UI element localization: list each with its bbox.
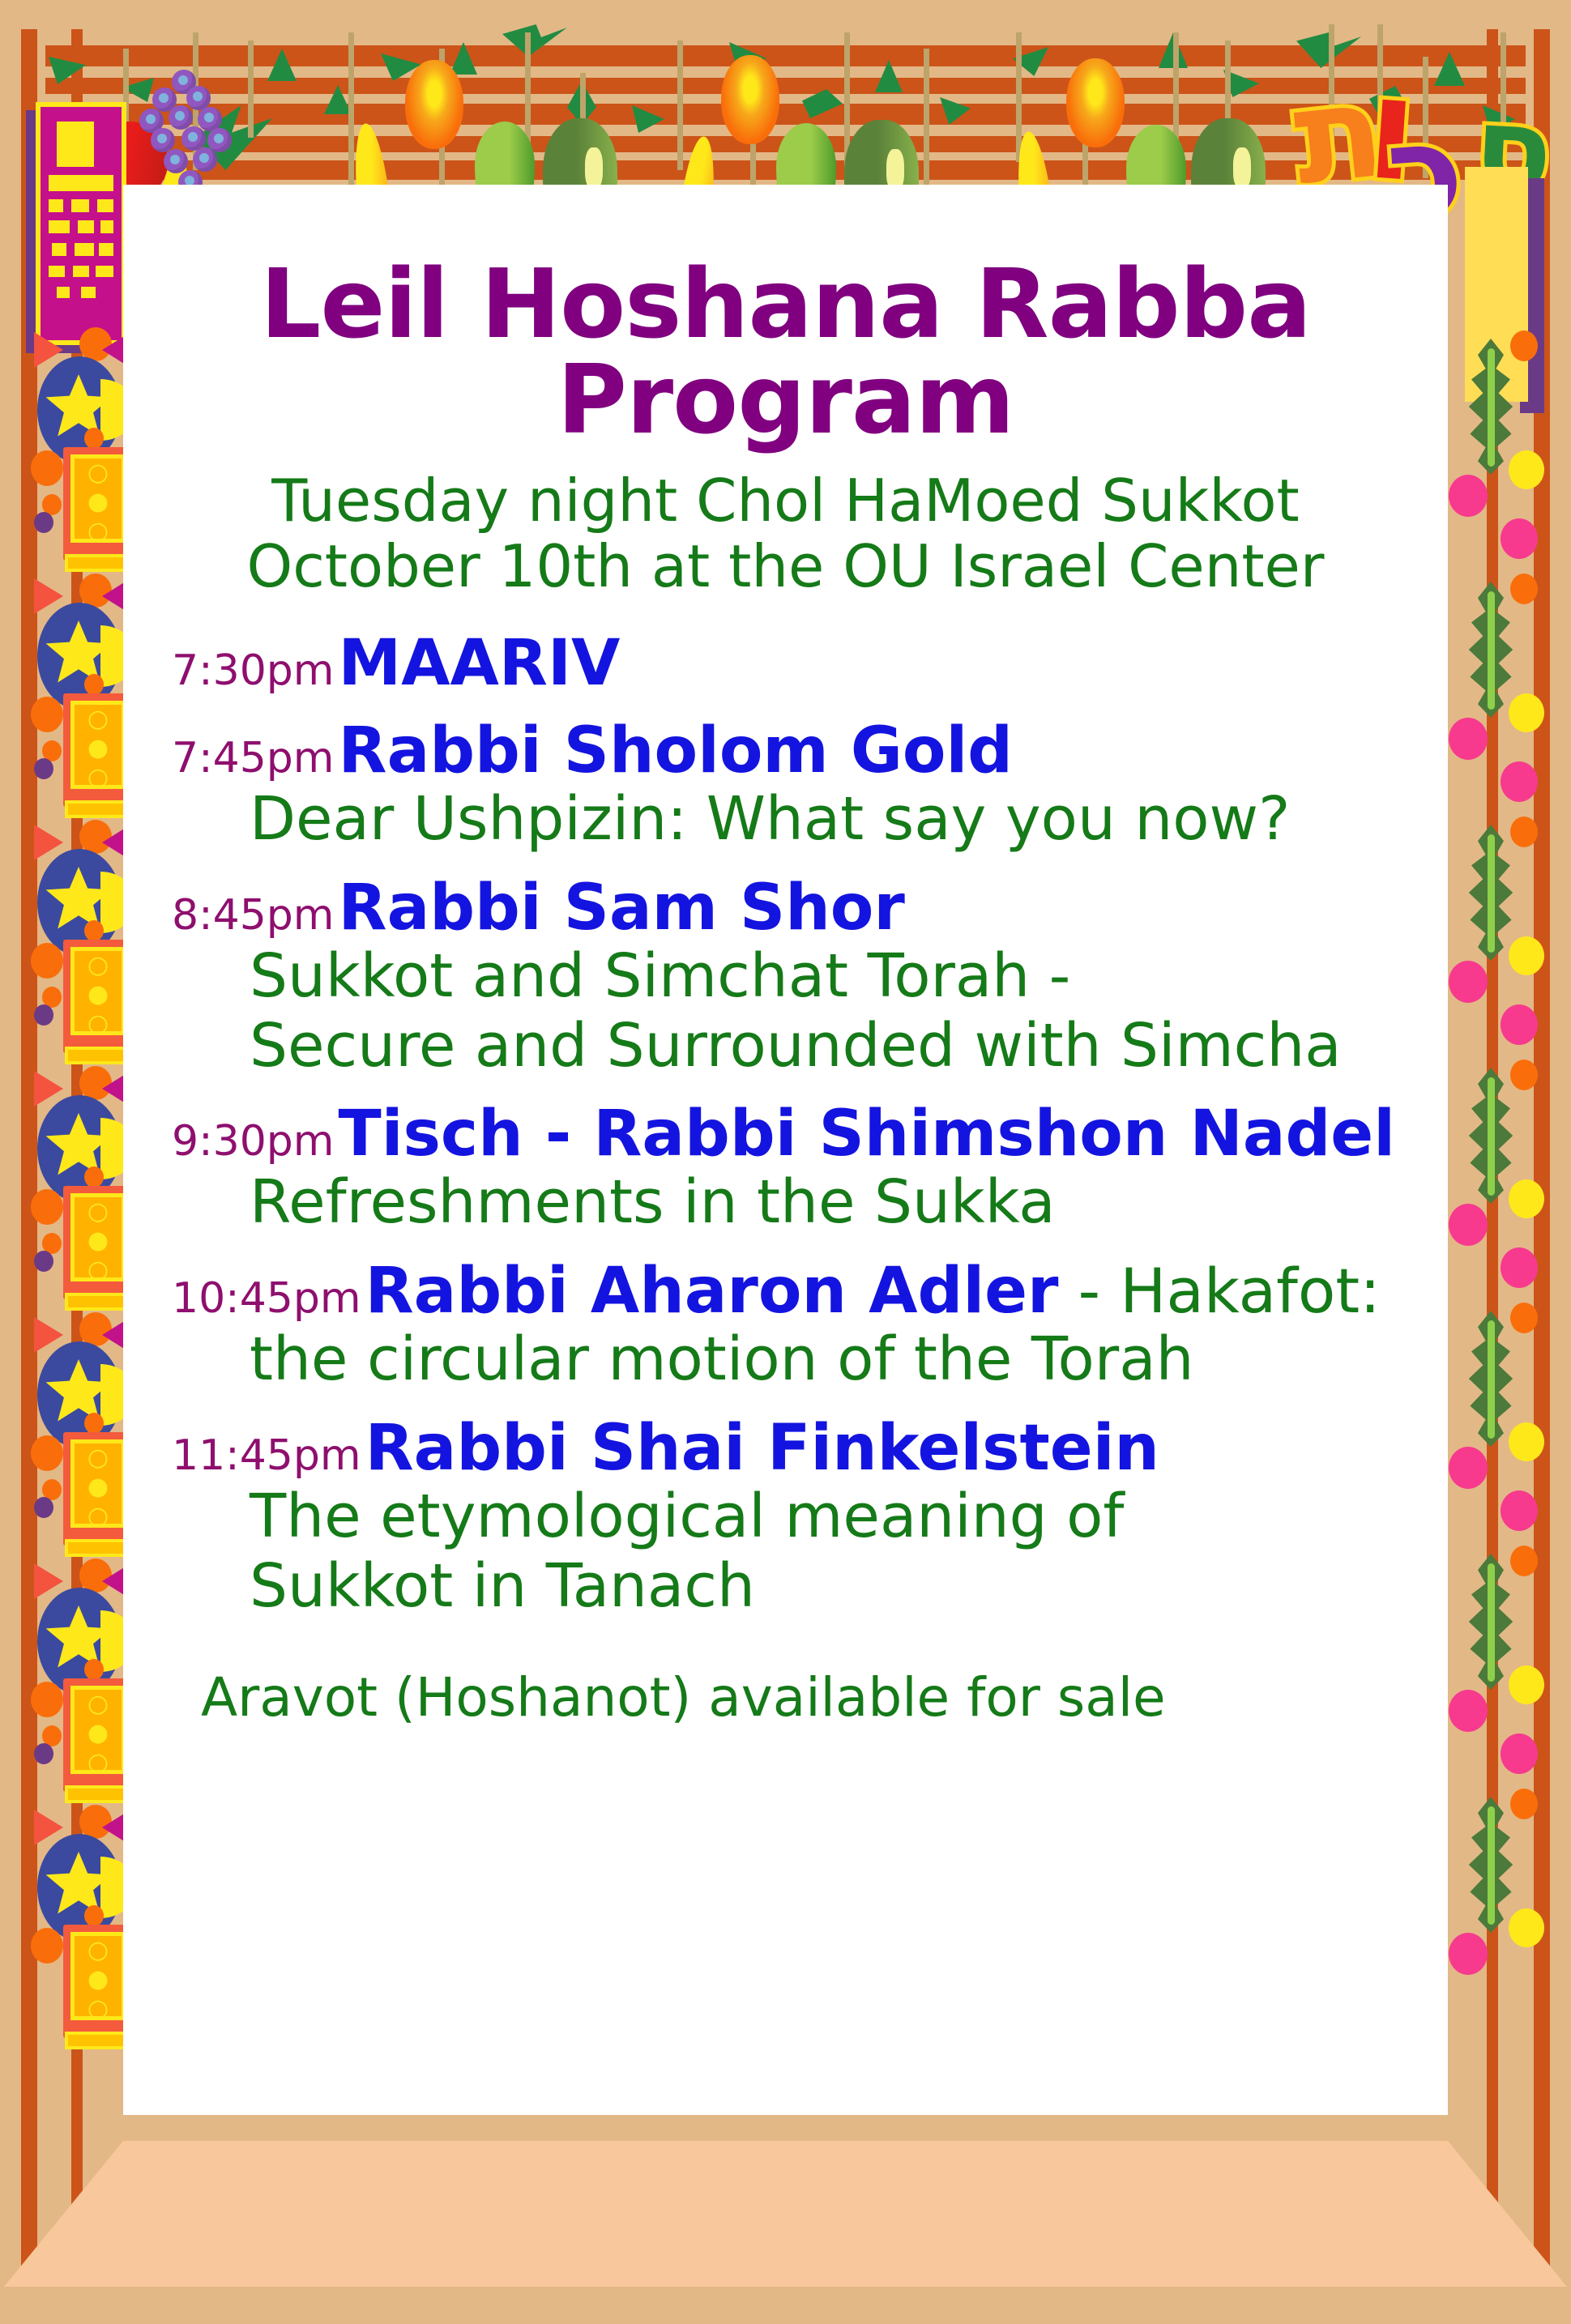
sukkot-program-poster: ת ו כ ס ○ ● ○ xyxy=(0,0,1571,2324)
etrog-icon xyxy=(721,55,779,144)
schedule-time: 8:45pm xyxy=(172,891,334,940)
etrog-icon xyxy=(1066,58,1125,147)
floor-surface xyxy=(0,2141,1571,2292)
subtitle-line-2: October 10th at the OU Israel Center xyxy=(123,534,1448,599)
schedule-time: 11:45pm xyxy=(172,1431,361,1480)
floor-edge xyxy=(0,2287,1571,2324)
schedule-description: Refreshments in the Sukka xyxy=(250,1168,1448,1238)
schedule-speaker: Rabbi Sam Shor xyxy=(339,872,905,945)
hanging-string xyxy=(677,41,683,170)
schedule-description: the circular motion of the Torah xyxy=(250,1325,1448,1395)
schedule-speaker: MAARIV xyxy=(339,627,621,700)
schedule-description: Secure and Surrounded with Simcha xyxy=(250,1012,1448,1081)
schedule-time: 7:30pm xyxy=(172,646,334,695)
hanging-string xyxy=(248,41,254,138)
post-stripe-left-outer xyxy=(21,29,37,2301)
schedule-item: 7:45pm Rabbi Sholom Gold Dear Ushpizin: … xyxy=(172,719,1448,855)
schedule-item: 9:30pm Tisch - Rabbi Shimshon Nadel Refr… xyxy=(172,1102,1448,1238)
page-title: Leil Hoshana Rabba Program xyxy=(123,256,1448,447)
subtitle: Tuesday night Chol HaMoed Sukkot October… xyxy=(123,468,1448,599)
schedule-item: 11:45pm Rabbi Shai Finkelstein The etymo… xyxy=(172,1416,1448,1622)
schedule-description: The etymological meaning of xyxy=(250,1482,1448,1552)
schedule-speaker: Rabbi Shai Finkelstein xyxy=(365,1412,1159,1485)
schedule-headline: 7:45pm Rabbi Sholom Gold xyxy=(172,719,1448,785)
schedule-speaker: Rabbi Sholom Gold xyxy=(339,714,1013,787)
schedule-time: 10:45pm xyxy=(172,1274,361,1323)
etrog-icon xyxy=(405,60,463,149)
schedule-item: 7:30pm MAARIV xyxy=(172,631,1448,697)
schedule-headline: 8:45pm Rabbi Sam Shor xyxy=(172,876,1448,942)
schedule-description: Sukkot in Tanach xyxy=(250,1552,1448,1622)
schedule-headline: 7:30pm MAARIV xyxy=(172,631,1448,697)
footer-note: Aravot (Hoshanot) available for sale xyxy=(201,1666,1448,1729)
schedule-headline: 9:30pm Tisch - Rabbi Shimshon Nadel xyxy=(172,1102,1448,1168)
schedule-time: 9:30pm xyxy=(172,1117,334,1166)
subtitle-line-1: Tuesday night Chol HaMoed Sukkot xyxy=(123,468,1448,534)
schedule-item: 8:45pm Rabbi Sam Shor Sukkot and Simchat… xyxy=(172,876,1448,1081)
schedule-headline: 11:45pm Rabbi Shai Finkelstein xyxy=(172,1416,1448,1482)
decor-panel-bricks xyxy=(49,122,113,332)
schedule-description: Sukkot and Simchat Torah - xyxy=(250,942,1448,1012)
schedule-item: 10:45pm Rabbi Aharon Adler - Hakafot: th… xyxy=(172,1259,1448,1395)
sukkah-floor xyxy=(0,2115,1571,2324)
schedule-speaker-suffix: - Hakafot: xyxy=(1058,1255,1380,1327)
schedule-speaker: Tisch - Rabbi Shimshon Nadel xyxy=(339,1098,1395,1171)
schedule-list: 7:30pm MAARIV 7:45pm Rabbi Sholom Gold D… xyxy=(123,631,1448,1621)
schedule-description: Dear Ushpizin: What say you now? xyxy=(250,785,1448,855)
schedule-headline: 10:45pm Rabbi Aharon Adler - Hakafot: xyxy=(172,1259,1448,1325)
schedule-speaker: Rabbi Aharon Adler xyxy=(365,1255,1059,1328)
program-content: Leil Hoshana Rabba Program Tuesday night… xyxy=(123,185,1448,1729)
schedule-time: 7:45pm xyxy=(172,734,334,782)
